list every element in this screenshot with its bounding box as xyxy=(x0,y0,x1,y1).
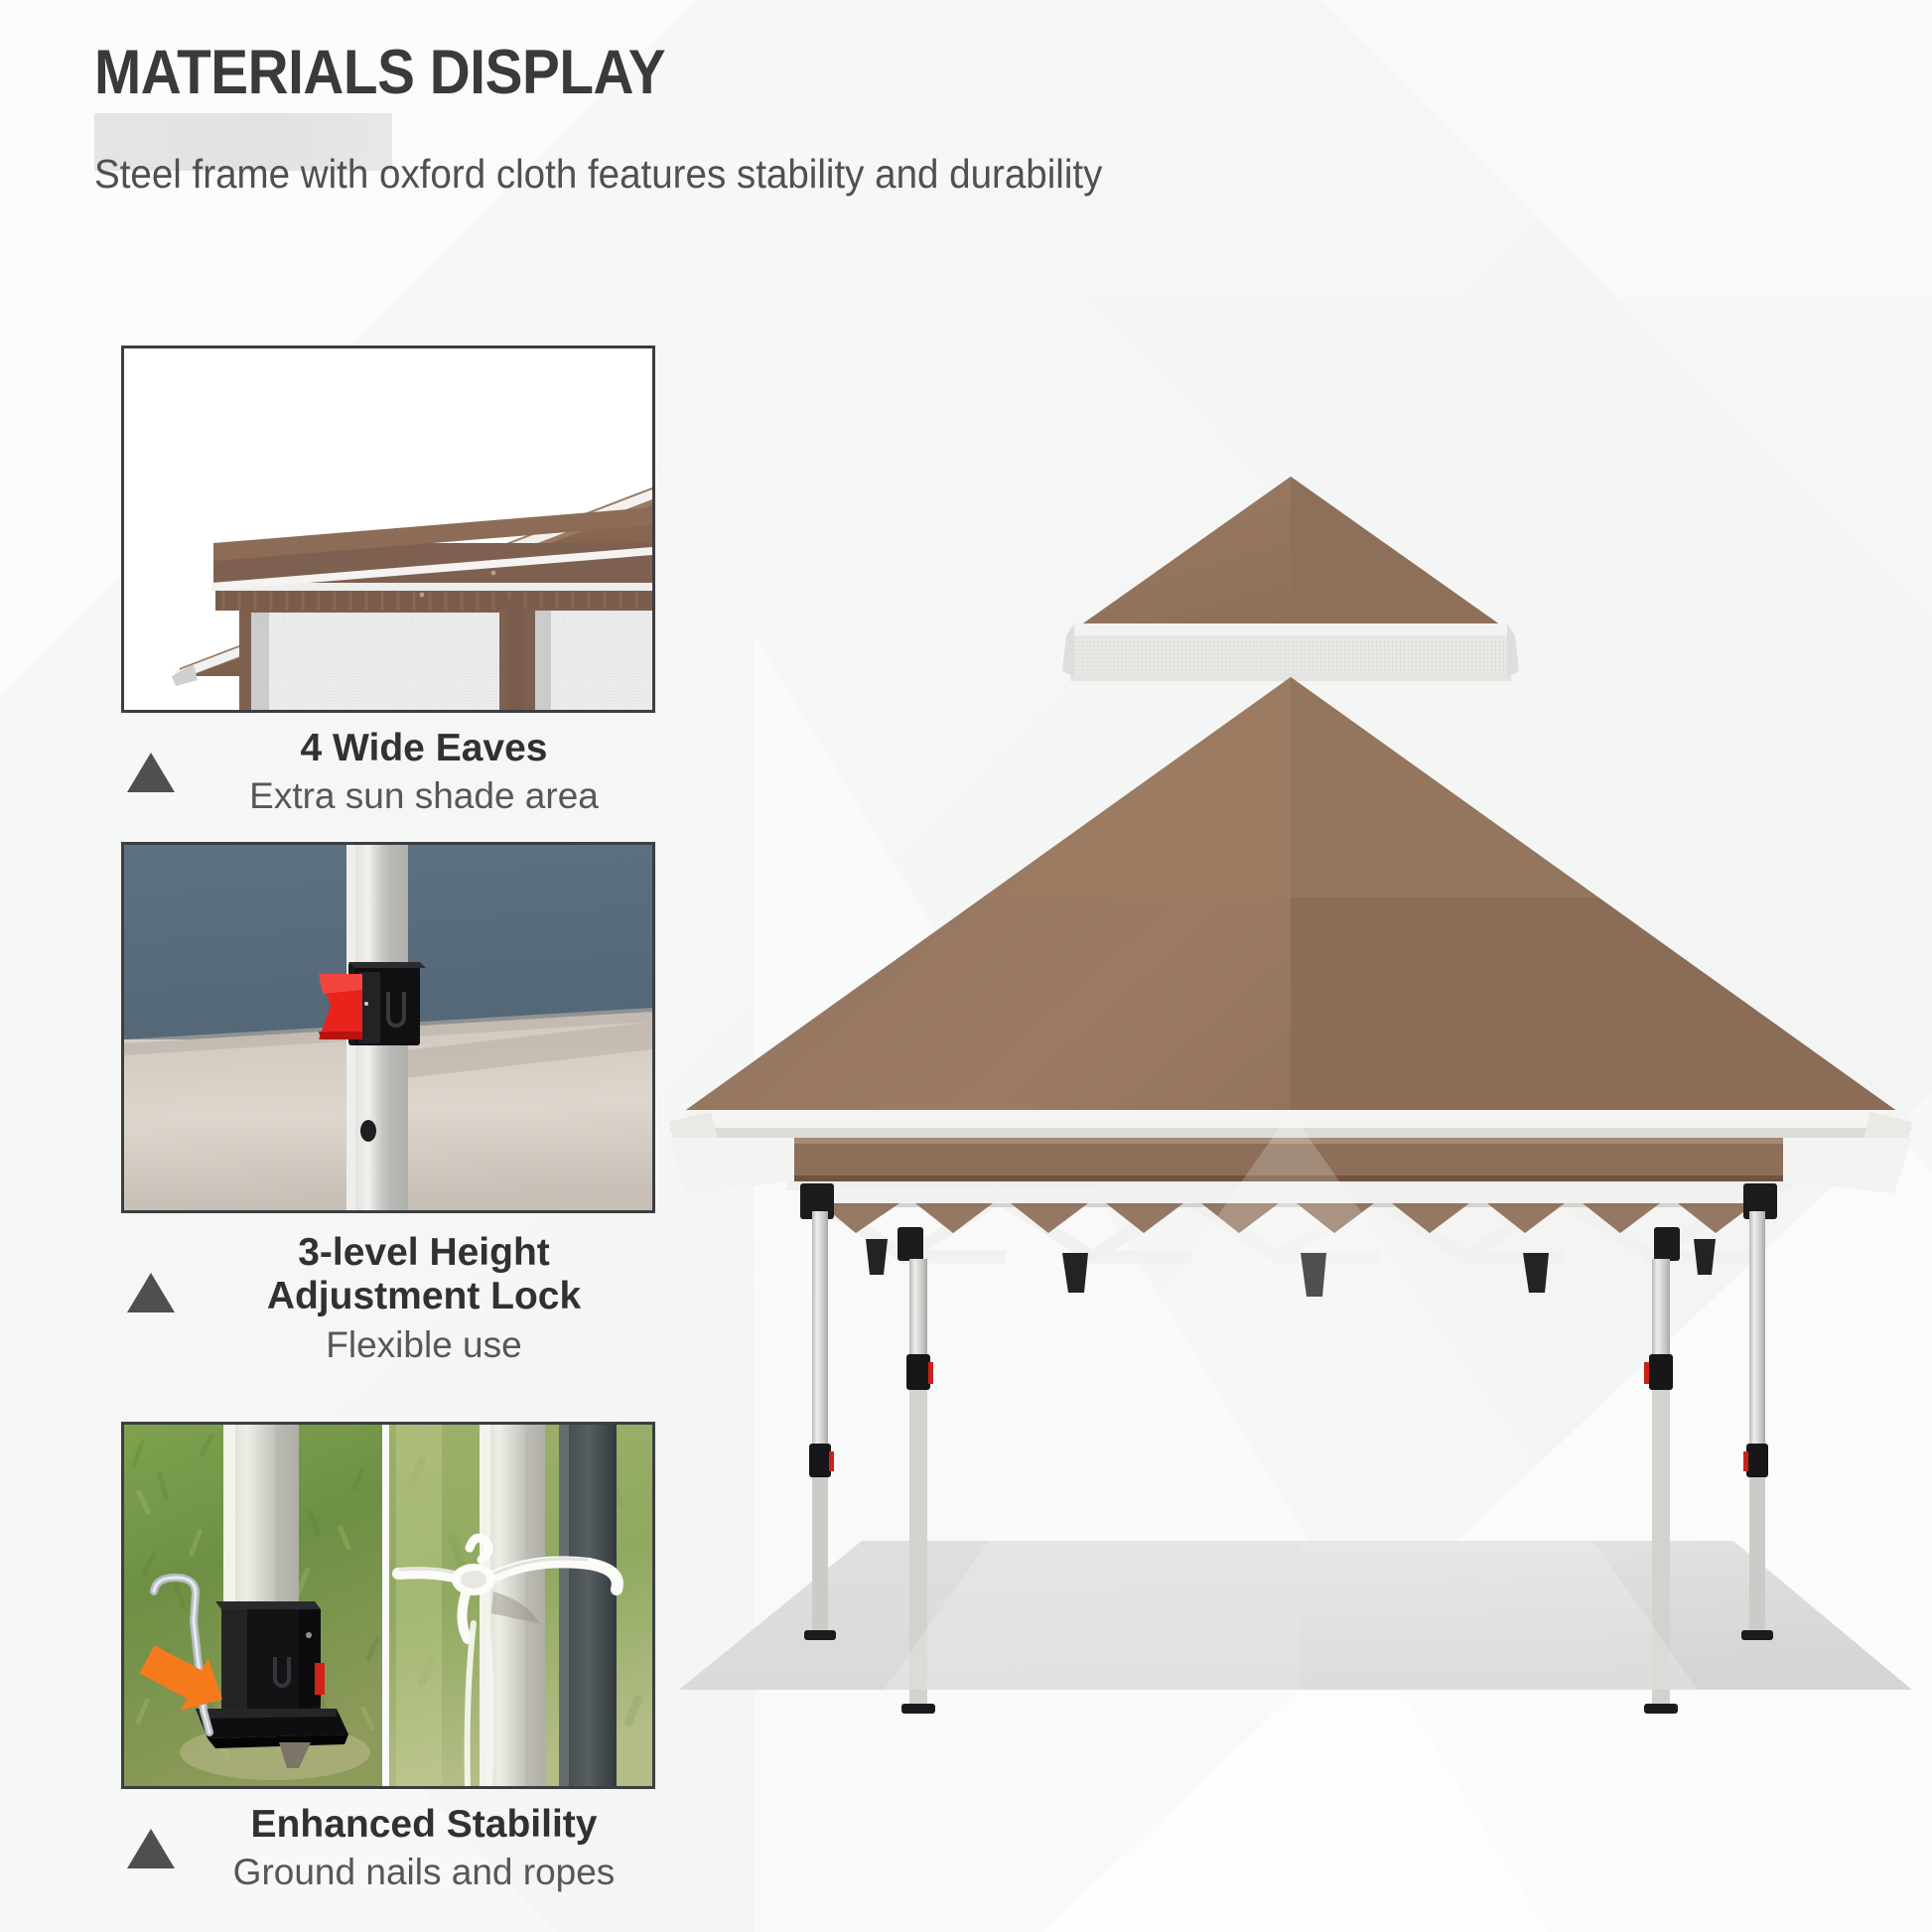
triangle-up-icon xyxy=(127,1829,175,1868)
feature-title: Enhanced Stability xyxy=(193,1803,655,1847)
height-adjustment-lock-photo xyxy=(121,842,655,1213)
feature-title: 3-level Height Adjustment Lock xyxy=(193,1231,655,1319)
feature-title: 4 Wide Eaves xyxy=(193,727,655,770)
page-title: MATERIALS DISPLAY xyxy=(94,42,1059,104)
feature-subtitle: Ground nails and ropes xyxy=(193,1851,655,1894)
caption-wide-eaves: 4 Wide Eaves Extra sun shade area xyxy=(121,727,655,819)
caption-enhanced-stability: Enhanced Stability Ground nails and rope… xyxy=(121,1803,655,1895)
triangle-up-icon xyxy=(127,1273,175,1312)
triangle-up-icon xyxy=(127,753,175,792)
pop-up-gazebo-render xyxy=(645,427,1932,1817)
ground-stake-and-rope-photo xyxy=(121,1422,655,1789)
feature-subtitle: Flexible use xyxy=(193,1323,655,1367)
feature-height-adjustment: 3-level Height Adjustment Lock Flexible … xyxy=(121,842,655,1367)
feature-enhanced-stability: Enhanced Stability Ground nails and rope… xyxy=(121,1422,655,1895)
feature-subtitle: Extra sun shade area xyxy=(193,774,655,818)
canopy-eave-closeup-photo xyxy=(121,345,655,713)
feature-wide-eaves: 4 Wide Eaves Extra sun shade area xyxy=(121,345,655,819)
caption-height-adjustment: 3-level Height Adjustment Lock Flexible … xyxy=(121,1231,655,1367)
page-subtitle: Steel frame with oxford cloth features s… xyxy=(94,152,1102,197)
header: MATERIALS DISPLAY Steel frame with oxfor… xyxy=(94,42,1167,197)
